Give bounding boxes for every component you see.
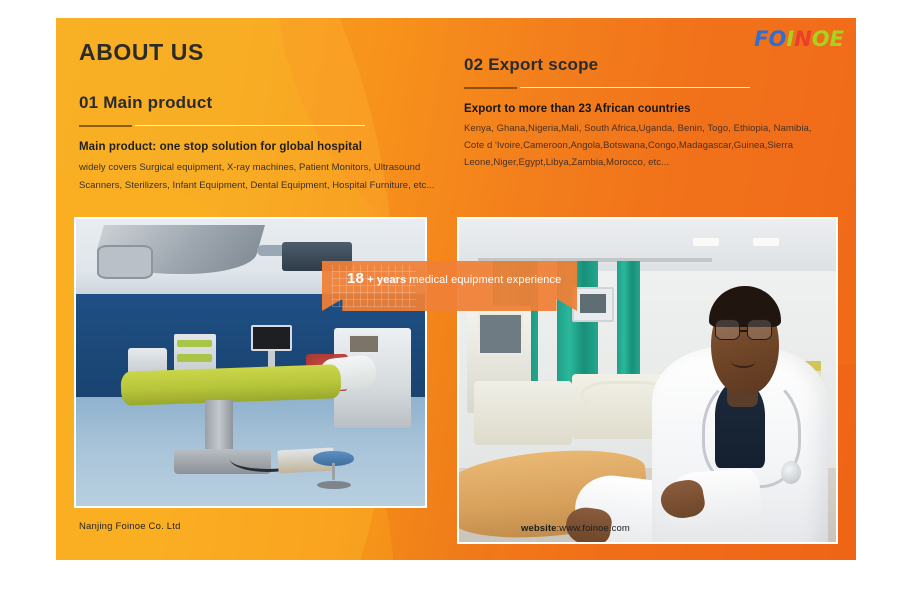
logo-letter-o2: O xyxy=(812,29,830,50)
section-01-divider xyxy=(79,124,365,127)
section-01-subhead: Main product: one stop solution for glob… xyxy=(79,139,449,156)
ribbon-years-number: 18 xyxy=(347,270,364,287)
experience-ribbon: 18 + years medical equipment experience xyxy=(322,261,577,311)
stool-leg xyxy=(332,463,335,480)
stool-base xyxy=(317,481,352,489)
hospital-bed-1 xyxy=(474,381,572,446)
glasses-bridge-icon xyxy=(740,330,747,331)
section-02-divider xyxy=(464,86,750,89)
website-line: website:www.foinoe.com xyxy=(521,523,630,534)
about-us-slide: FOINOE ABOUT US 01 Main product Main pro… xyxy=(0,0,916,589)
anaesthesia-screen xyxy=(348,334,379,354)
logo-letter-i: I xyxy=(786,29,794,50)
or-monitor-screen xyxy=(251,325,293,351)
section-02-subhead: Export to more than 23 African countries xyxy=(464,101,834,118)
glasses-left-lens-icon xyxy=(715,319,740,340)
doctor-figure xyxy=(625,219,836,542)
section-main-product: 01 Main product Main product: one stop s… xyxy=(79,93,449,194)
section-01-body: widely covers Surgical equipment, X-ray … xyxy=(79,159,449,194)
section-01-heading: 01 Main product xyxy=(79,93,449,113)
section-export-scope: 02 Export scope Export to more than 23 A… xyxy=(464,55,834,171)
foinoe-logo: FOINOE xyxy=(754,29,844,50)
logo-letter-o1: O xyxy=(769,29,787,50)
operating-table-column xyxy=(205,400,233,452)
website-url[interactable]: www.foinoe.com xyxy=(559,523,630,534)
ribbon-text: 18 + years medical equipment experience xyxy=(347,268,563,290)
company-name: Nanjing Foinoe Co. Ltd xyxy=(79,521,181,532)
glasses-right-lens-icon xyxy=(747,319,772,340)
ultrasound-screen xyxy=(478,313,523,355)
orange-panel: FOINOE ABOUT US 01 Main product Main pro… xyxy=(56,18,856,560)
ribbon-plus-years: + years xyxy=(367,274,406,286)
website-label: website xyxy=(521,523,557,534)
logo-letter-e: E xyxy=(830,29,844,50)
logo-letter-n: N xyxy=(794,29,812,50)
surgeon-stool xyxy=(313,451,369,488)
wall-monitor xyxy=(572,287,613,323)
surgical-light-head-icon xyxy=(97,245,153,279)
logo-letter-f: F xyxy=(754,29,768,50)
ribbon-rest-text: medical equipment experience xyxy=(406,274,561,286)
section-02-body: Kenya, Ghana,Nigeria,Mali, South Africa,… xyxy=(464,121,834,171)
page-title: ABOUT US xyxy=(79,39,204,66)
section-02-heading: 02 Export scope xyxy=(464,55,834,75)
